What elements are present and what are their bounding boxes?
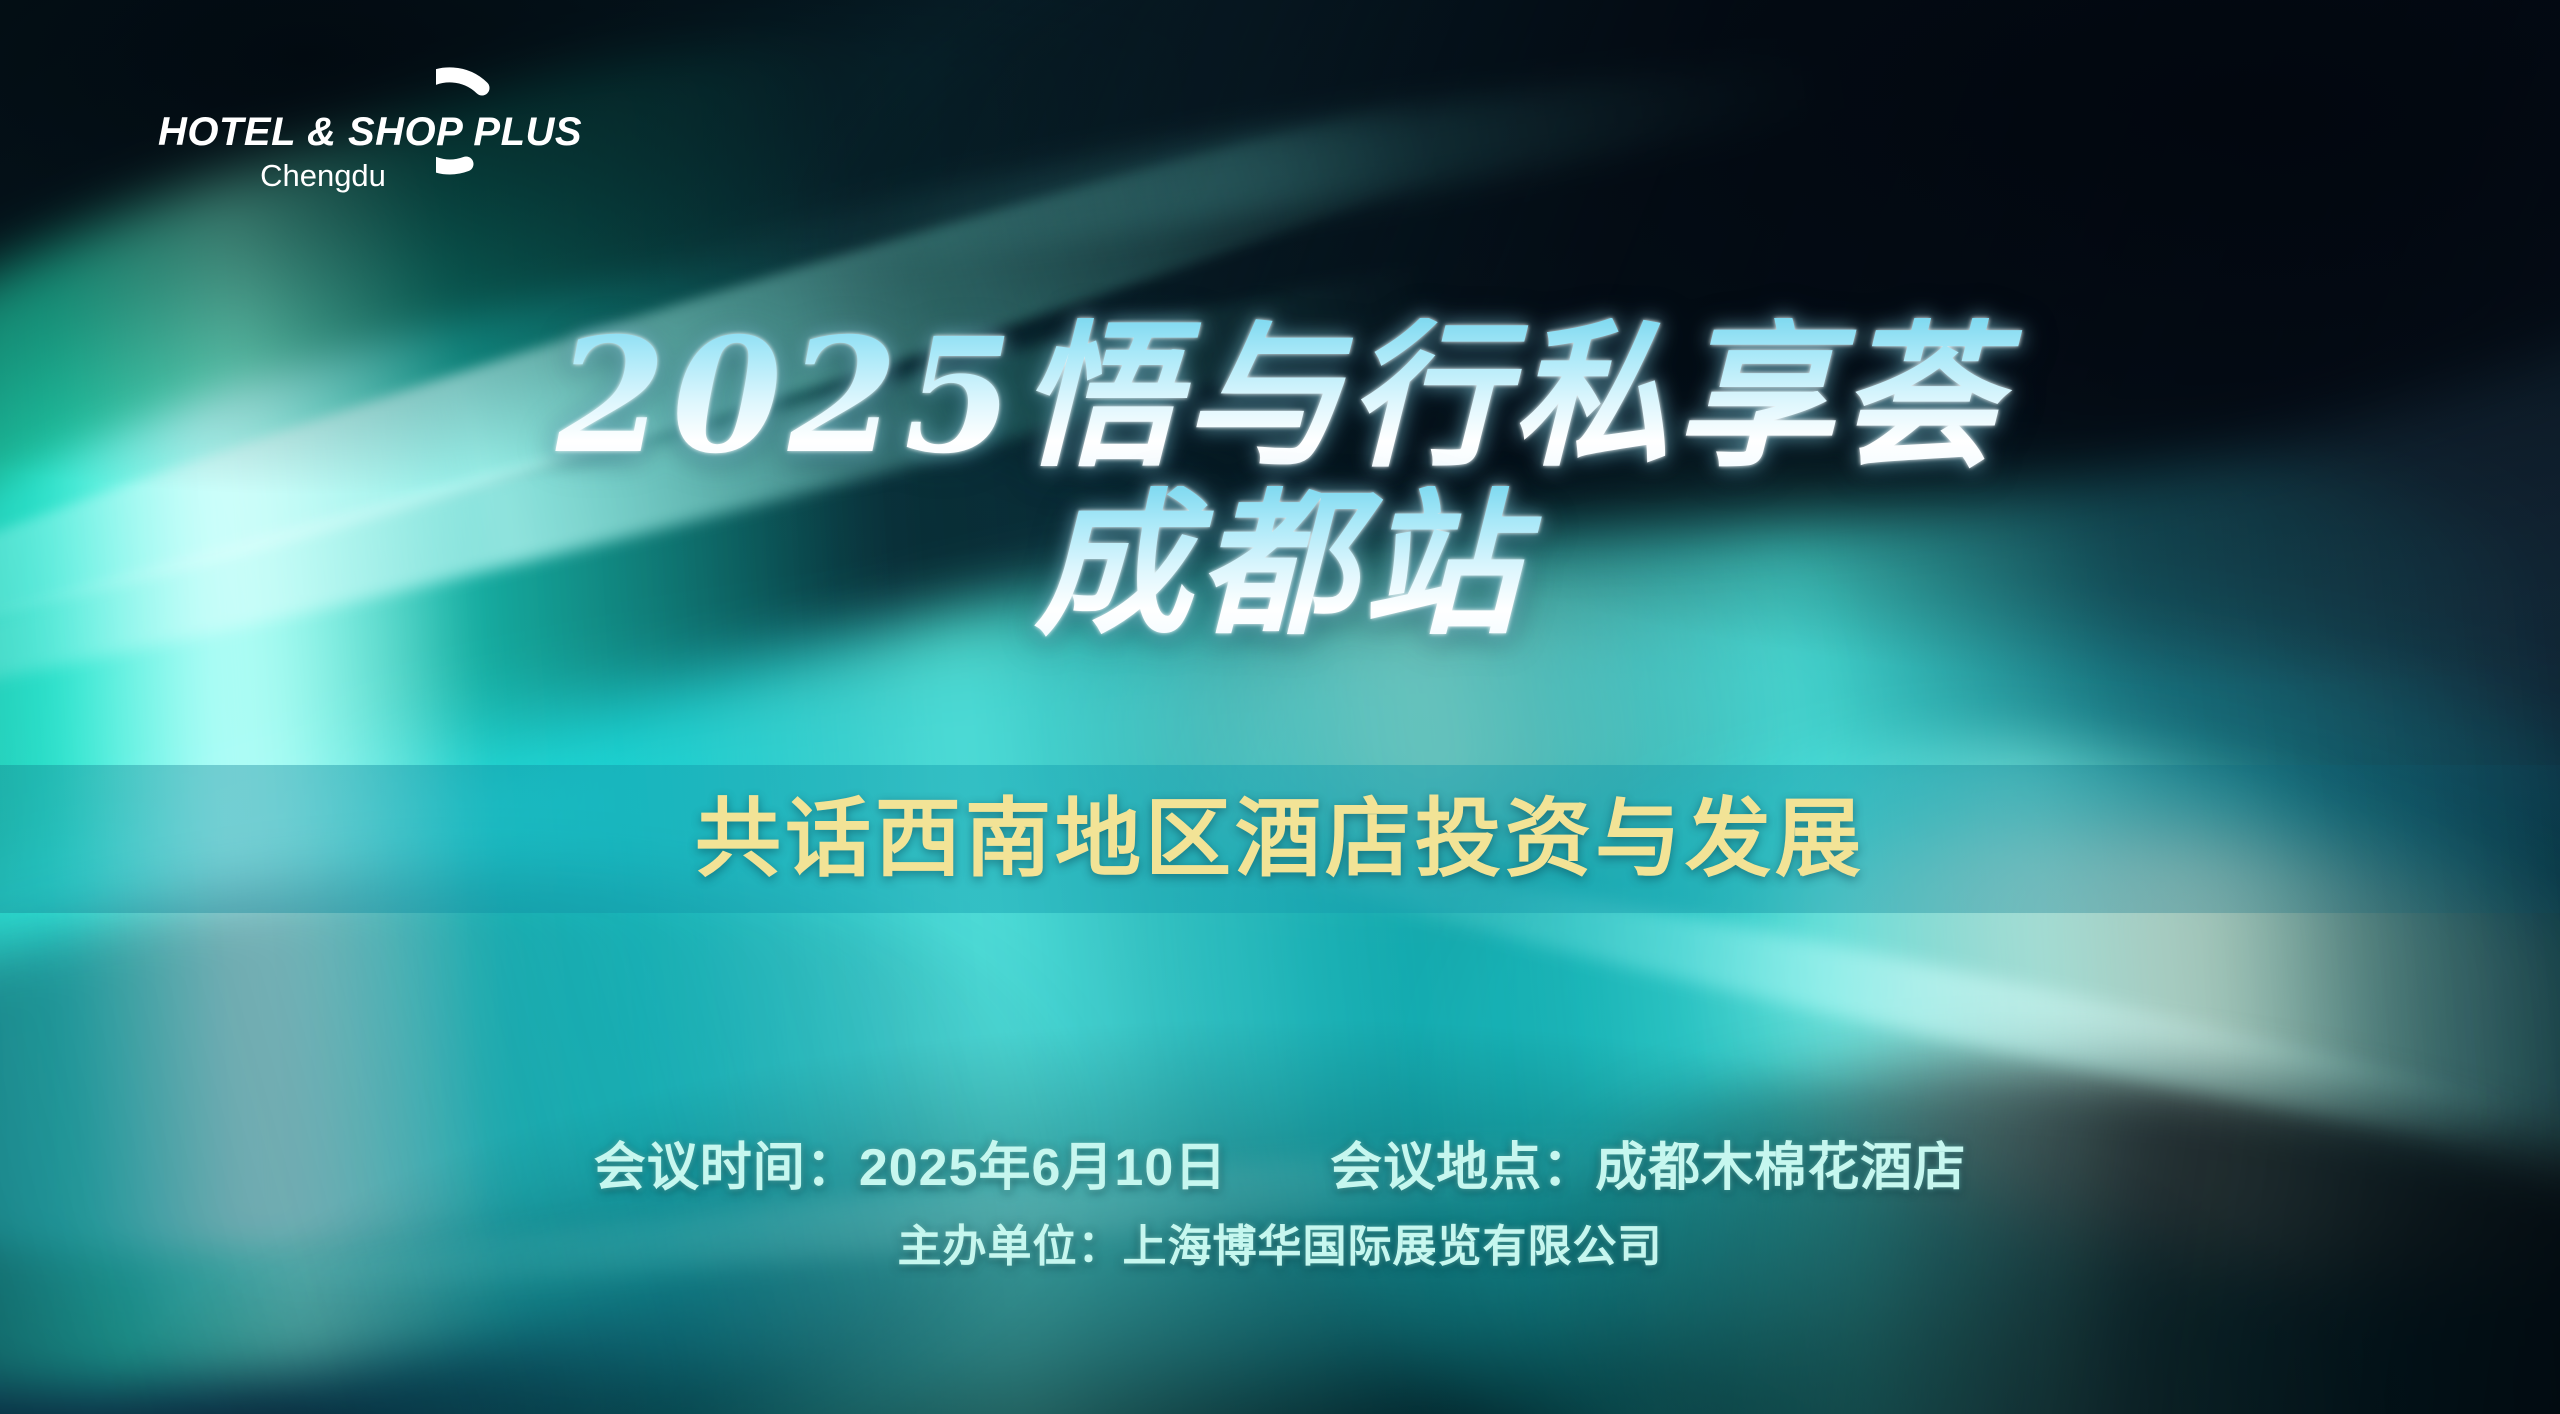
organizer-line: 主办单位：上海博华国际展览有限公司 (0, 1223, 2560, 1271)
event-poster: HOTEL & SHOP PLUS Chengdu 2025悟与行私享荟 成都站… (0, 0, 2560, 1414)
event-details-row-primary: 会议时间：2025年6月10日 会议地点：成都木棉花酒店 (0, 1140, 2560, 1197)
subtitle-band: 共话西南地区酒店投资与发展 (0, 765, 2560, 913)
subtitle-text: 共话西南地区酒店投资与发展 (695, 796, 1865, 882)
meeting-venue-value: 成都木棉花酒店 (1595, 1139, 1966, 1197)
meeting-venue-label: 会议地点： (1330, 1139, 1595, 1197)
brand-logo: HOTEL & SHOP PLUS Chengdu (150, 60, 570, 210)
event-details: 会议时间：2025年6月10日 会议地点：成都木棉花酒店 主办单位：上海博华国际… (0, 1140, 2560, 1272)
page-title: 2025悟与行私享荟 成都站 (0, 318, 2560, 644)
meeting-time-label: 会议时间： (594, 1139, 859, 1197)
brand-logo-text: HOTEL & SHOP PLUS Chengdu (158, 112, 528, 191)
title-line-primary: 2025悟与行私享荟 (0, 318, 2560, 476)
meeting-time-value: 2025年6月10日 (859, 1139, 1227, 1197)
brand-city: Chengdu (158, 160, 488, 191)
title-line-secondary: 成都站 (0, 486, 2560, 644)
brand-name: HOTEL & SHOP PLUS (158, 112, 528, 152)
